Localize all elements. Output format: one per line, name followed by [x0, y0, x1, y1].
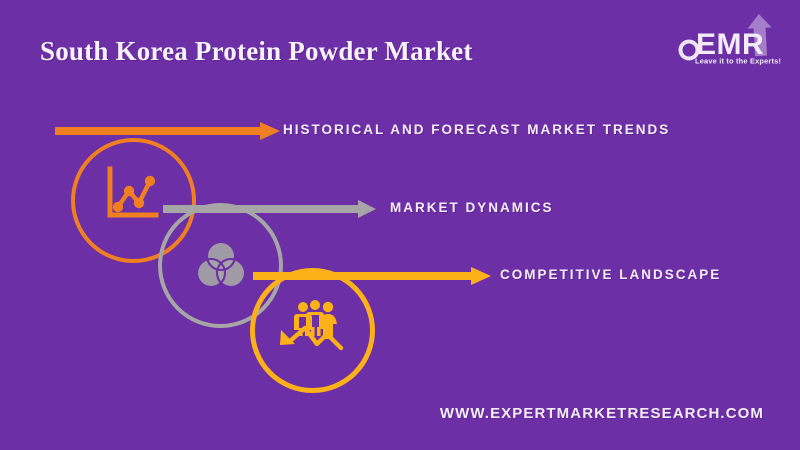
people-growth-icon [275, 298, 347, 360]
connector-arrow-market-dynamics [163, 200, 376, 218]
connector-arrow-historical-trends [55, 122, 280, 140]
venn-diagram-icon [192, 235, 250, 293]
line-chart-icon [104, 165, 162, 223]
connector-arrow-competitive-landscape [253, 267, 491, 285]
label-market-dynamics: MARKET DYNAMICS [390, 200, 554, 215]
infographic-canvas: South Korea Protein Powder Market EMR Le… [0, 0, 800, 450]
logo-tagline: Leave it to the Experts! [695, 57, 781, 66]
footer-website-url: WWW.EXPERTMARKETRESEARCH.COM [440, 405, 764, 422]
label-historical-trends: HISTORICAL AND FORECAST MARKET TRENDS [283, 122, 670, 137]
label-competitive-landscape: COMPETITIVE LANDSCAPE [500, 267, 721, 282]
page-title: South Korea Protein Powder Market [40, 36, 473, 67]
emr-logo: EMR Leave it to the Experts! [676, 12, 786, 70]
